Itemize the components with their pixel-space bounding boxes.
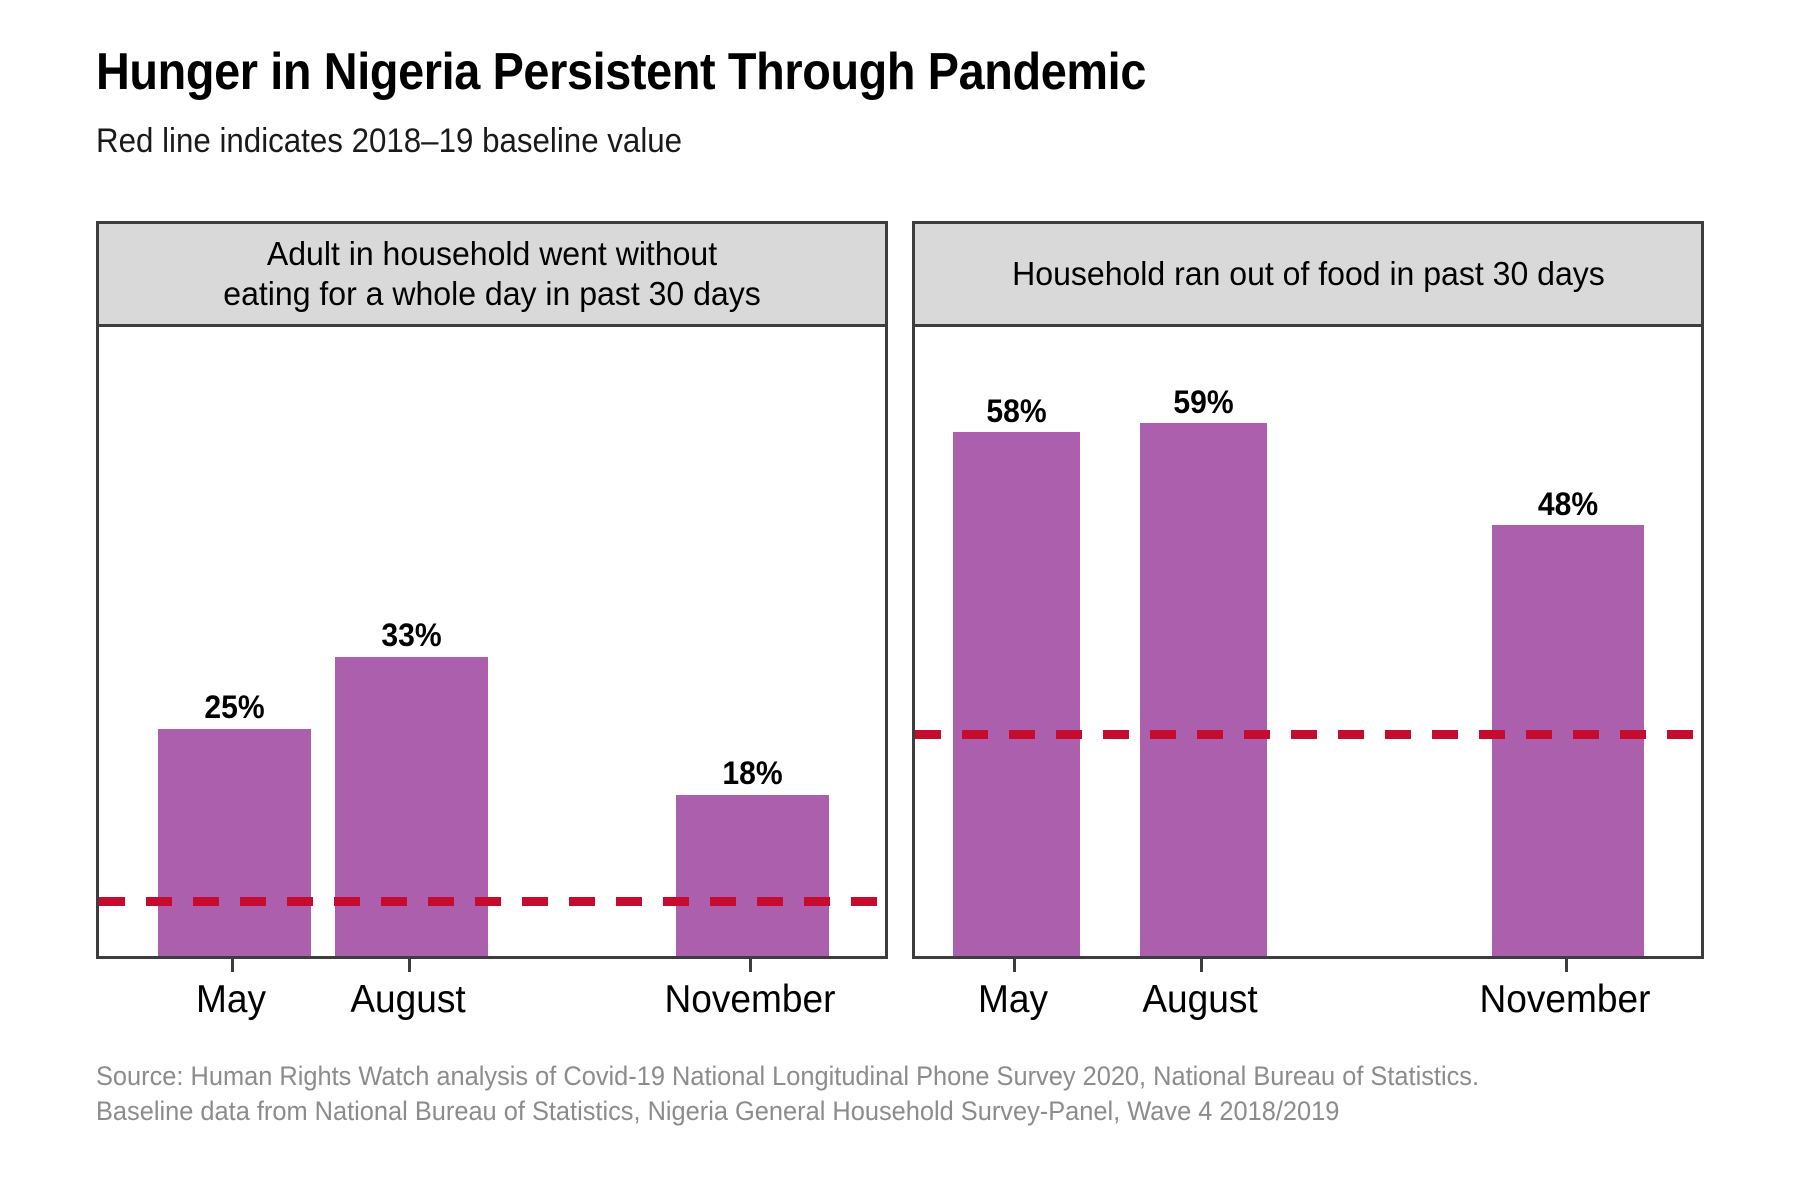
- axis-tick: [1200, 959, 1203, 972]
- bar-november[interactable]: [676, 795, 829, 956]
- chart-title: Hunger in Nigeria Persistent Through Pan…: [96, 42, 1146, 102]
- panel-strip-header: Household ran out of food in past 30 day…: [912, 221, 1704, 327]
- category-label-may: May: [918, 978, 1108, 1022]
- category-label-august: August: [313, 978, 503, 1022]
- panel-strip-title: Household ran out of food in past 30 day…: [1004, 254, 1612, 294]
- plot-area: 58% 59% 48%: [912, 327, 1704, 959]
- axis-tick: [1565, 959, 1568, 972]
- axis-tick: [408, 959, 411, 972]
- category-label-november: November: [650, 978, 850, 1022]
- bar-may[interactable]: [953, 432, 1080, 956]
- baseline-line: [915, 730, 1701, 739]
- chart-canvas: Hunger in Nigeria Persistent Through Pan…: [0, 0, 1800, 1200]
- panel-strip-header: Adult in household went without eating f…: [96, 221, 888, 327]
- baseline-line: [99, 897, 885, 906]
- axis-tick: [749, 959, 752, 972]
- category-label-november: November: [1465, 978, 1665, 1022]
- axis-tick: [1013, 959, 1016, 972]
- bar-may[interactable]: [158, 729, 311, 956]
- chart-subtitle: Red line indicates 2018–19 baseline valu…: [96, 122, 682, 161]
- bar-value-label: 18%: [681, 755, 825, 792]
- panel-adult-went-without-eating: Adult in household went without eating f…: [96, 221, 888, 959]
- bar-value-label: 25%: [163, 689, 307, 726]
- plot-area: 25% 33% 18%: [96, 327, 888, 959]
- panel-household-ran-out-of-food: Household ran out of food in past 30 day…: [912, 221, 1704, 959]
- bar-november[interactable]: [1492, 525, 1644, 956]
- category-label-august: August: [1105, 978, 1295, 1022]
- axis-tick: [231, 959, 234, 972]
- bar-august[interactable]: [335, 657, 488, 956]
- bar-value-label: 58%: [949, 393, 1083, 430]
- bar-value-label: 59%: [1136, 384, 1270, 421]
- category-label-may: May: [136, 978, 326, 1022]
- bar-value-label: 33%: [340, 617, 484, 654]
- bar-value-label: 48%: [1497, 486, 1640, 523]
- panel-strip-title: Adult in household went without eating f…: [216, 234, 769, 315]
- bar-august[interactable]: [1140, 423, 1267, 956]
- source-note: Source: Human Rights Watch analysis of C…: [96, 1059, 1479, 1129]
